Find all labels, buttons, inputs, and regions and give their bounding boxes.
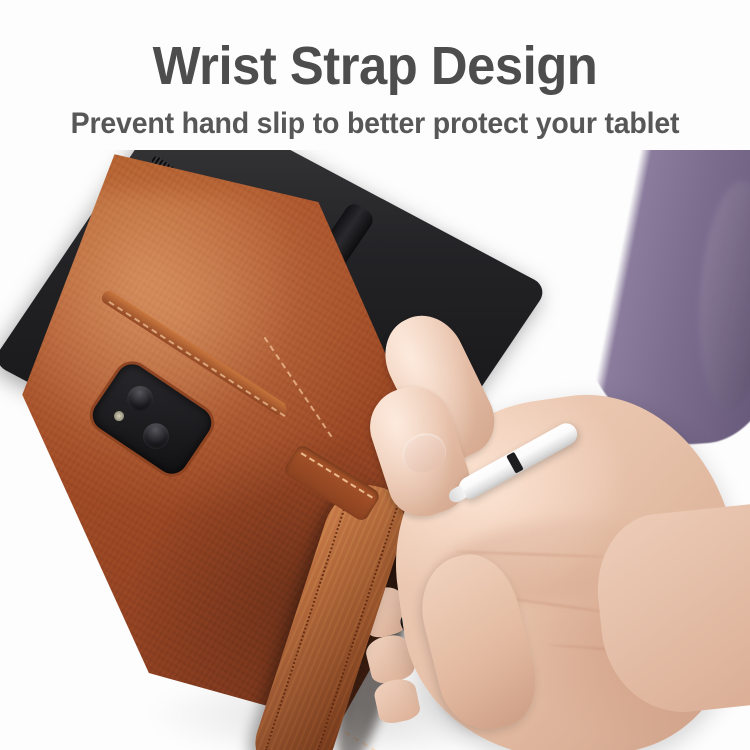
camera-lens-secondary [138,418,174,454]
subheadline: Prevent hand slip to better protect your… [19,107,732,141]
shirt-fold [692,179,750,413]
headline: Wrist Strap Design [23,38,728,95]
camera-lens-primary [122,381,158,417]
stylus-band [506,452,524,474]
product-photo [0,150,750,750]
product-feature-banner: Wrist Strap Design Prevent hand slip to … [0,0,750,750]
camera-flash [112,409,126,423]
banner-text-block: Wrist Strap Design Prevent hand slip to … [0,0,750,141]
